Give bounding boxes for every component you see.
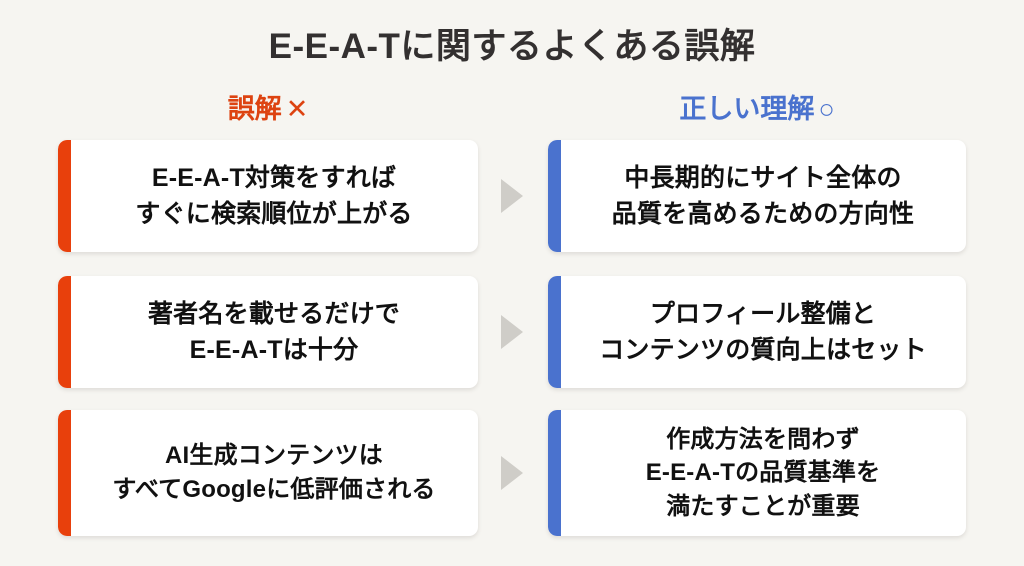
triangle-right-icon	[501, 456, 523, 490]
accent-bar-blue	[548, 410, 561, 536]
misconception-text: AI生成コンテンツは すべてGoogleに低評価される	[80, 439, 455, 506]
correct-card: プロフィール整備と コンテンツの質向上はセット	[548, 276, 966, 388]
correct-text: 作成方法を問わず E-E-A-Tの品質基準を 満たすことが重要	[614, 423, 901, 524]
misconception-text: 著者名を載せるだけで E-E-A-Tは十分	[116, 296, 420, 369]
comparison-row: 著者名を載せるだけで E-E-A-Tは十分 プロフィール整備と コンテンツの質向…	[0, 276, 1024, 388]
accent-bar-orange	[58, 410, 71, 536]
misconception-card: 著者名を載せるだけで E-E-A-Tは十分	[58, 276, 478, 388]
misconception-card: AI生成コンテンツは すべてGoogleに低評価される	[58, 410, 478, 536]
triangle-right-icon	[501, 315, 523, 349]
accent-bar-orange	[58, 140, 71, 252]
misconception-text: E-E-A-T対策をすれば すぐに検索順位が上がる	[103, 160, 432, 233]
triangle-right-icon	[501, 179, 523, 213]
accent-bar-blue	[548, 140, 561, 252]
accent-bar-orange	[58, 276, 71, 388]
accent-bar-blue	[548, 276, 561, 388]
slide-canvas: E-E-A-Tに関するよくある誤解 誤解✕ 正しい理解○ E-E-A-T対策をす…	[0, 0, 1024, 566]
comparison-row: E-E-A-T対策をすれば すぐに検索順位が上がる 中長期的にサイト全体の 品質…	[0, 140, 1024, 252]
correct-text: 中長期的にサイト全体の 品質を高めるための方向性	[580, 160, 934, 233]
correct-card: 中長期的にサイト全体の 品質を高めるための方向性	[548, 140, 966, 252]
comparison-rows: E-E-A-T対策をすれば すぐに検索順位が上がる 中長期的にサイト全体の 品質…	[0, 0, 1024, 566]
misconception-card: E-E-A-T対策をすれば すぐに検索順位が上がる	[58, 140, 478, 252]
comparison-row: AI生成コンテンツは すべてGoogleに低評価される 作成方法を問わず E-E…	[0, 410, 1024, 536]
correct-card: 作成方法を問わず E-E-A-Tの品質基準を 満たすことが重要	[548, 410, 966, 536]
correct-text: プロフィール整備と コンテンツの質向上はセット	[567, 296, 947, 369]
